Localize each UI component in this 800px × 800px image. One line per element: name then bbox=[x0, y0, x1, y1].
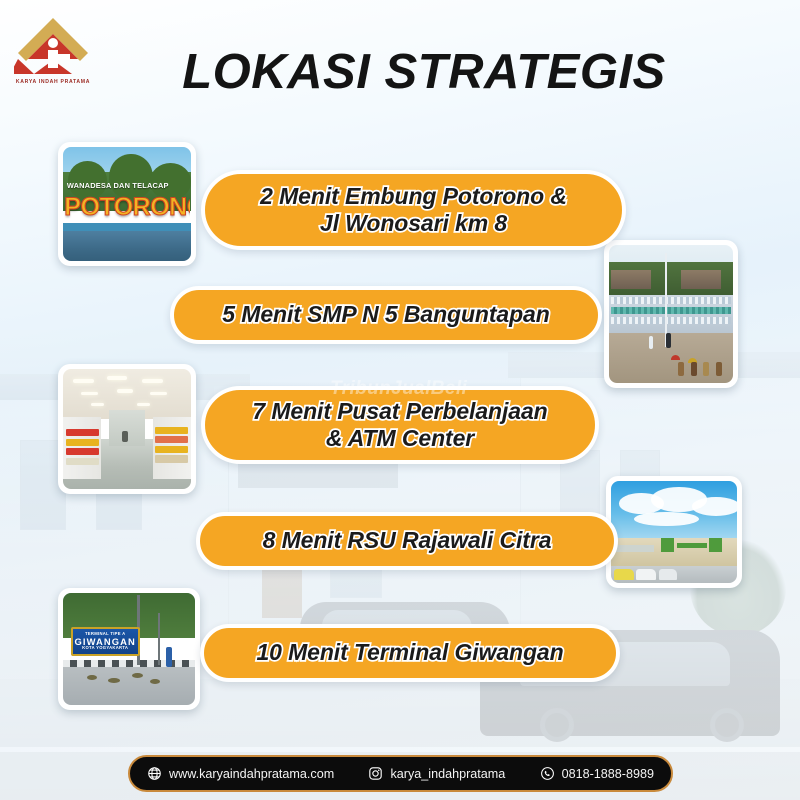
globe-icon bbox=[147, 766, 162, 781]
banner-smp-n-5-banguntapan[interactable]: 5 Menit SMP N 5 Banguntapan bbox=[170, 286, 602, 344]
banner-line: 5 Menit SMP N 5 Banguntapan bbox=[222, 301, 549, 327]
photo-rsu-rajawali-citra bbox=[606, 476, 742, 588]
photo-water bbox=[63, 231, 191, 261]
banner-line: 10 Menit Terminal Giwangan bbox=[256, 639, 563, 665]
banner-embung-potorono-text: 2 Menit Embung Potorono & Jl Wonosari km… bbox=[260, 183, 567, 237]
photo-ceiling-light bbox=[117, 389, 134, 393]
photo-embung-potorono-inner: WANADESA DAN TELACAP POTORONO bbox=[63, 147, 191, 261]
website-label: www.karyaindahpratama.com bbox=[169, 767, 334, 781]
photo-umbrella bbox=[671, 355, 680, 360]
photo-debris bbox=[108, 678, 120, 683]
contact-whatsapp[interactable]: 0818-1888-8989 bbox=[540, 766, 654, 781]
banner-smp-text: 5 Menit SMP N 5 Banguntapan bbox=[222, 301, 549, 328]
photo-product bbox=[66, 429, 99, 436]
page-title: LOKASI STRATEGIS bbox=[24, 44, 800, 100]
photo-product bbox=[155, 436, 188, 443]
banner-rsu-text: 8 Menit RSU Rajawali Citra bbox=[263, 527, 552, 554]
banner-pusat-perbelanjaan[interactable]: 7 Menit Pusat Perbelanjaan & ATM Center bbox=[201, 386, 599, 464]
photo-cloud bbox=[634, 512, 700, 526]
photo-terminal-sign: TERMINAL TIPE A GIWANGAN KOTA YOGYAKARTA bbox=[71, 627, 140, 656]
photo-person bbox=[649, 336, 653, 349]
photo-ceiling-light bbox=[150, 392, 167, 396]
photo-ceiling-light bbox=[91, 403, 104, 406]
photo-school-building bbox=[681, 270, 721, 289]
contact-website[interactable]: www.karyaindahpratama.com bbox=[147, 766, 334, 781]
photo-product bbox=[155, 427, 188, 434]
banner-rsu-rajawali-citra[interactable]: 8 Menit RSU Rajawali Citra bbox=[196, 512, 618, 570]
banner-line: 8 Menit RSU Rajawali Citra bbox=[263, 527, 552, 553]
photo-caption-small: WANADESA DAN TELACAP bbox=[67, 181, 187, 190]
photo-road bbox=[63, 665, 195, 705]
photo-smp-inner bbox=[609, 245, 733, 383]
banner-embung-potorono[interactable]: 2 Menit Embung Potorono & Jl Wonosari km… bbox=[201, 170, 626, 250]
photo-school-building bbox=[611, 270, 651, 289]
photo-student-row bbox=[611, 317, 730, 324]
photo-person bbox=[678, 362, 684, 376]
photo-hospital-inner bbox=[611, 481, 737, 583]
photo-parked-car bbox=[636, 569, 656, 580]
whatsapp-label: 0818-1888-8989 bbox=[562, 767, 654, 781]
photo-green-panel bbox=[661, 538, 674, 552]
photo-pusat-perbelanjaan bbox=[58, 364, 196, 494]
photo-cloud bbox=[692, 497, 737, 515]
photo-product bbox=[155, 455, 188, 462]
photo-product bbox=[66, 448, 99, 455]
photo-hospital-sign bbox=[677, 543, 707, 548]
instagram-icon bbox=[368, 766, 383, 781]
photo-shopper bbox=[122, 431, 128, 442]
photo-ceiling-light bbox=[81, 392, 98, 396]
photo-giwangan-inner: TERMINAL TIPE A GIWANGAN KOTA YOGYAKARTA bbox=[63, 593, 195, 705]
banner-line: 2 Menit Embung Potorono & bbox=[260, 183, 567, 209]
photo-ceiling-light bbox=[142, 379, 162, 383]
banner-giwangan-text: 10 Menit Terminal Giwangan bbox=[256, 639, 563, 666]
photo-ceiling-light bbox=[137, 403, 150, 406]
photo-person bbox=[691, 362, 697, 376]
photo-person bbox=[703, 362, 709, 376]
photo-terminal-giwangan: TERMINAL TIPE A GIWANGAN KOTA YOGYAKARTA bbox=[58, 588, 200, 710]
banner-perbelanjaan-text: 7 Menit Pusat Perbelanjaan & ATM Center bbox=[252, 398, 547, 452]
photo-person bbox=[166, 647, 172, 667]
photo-student-row bbox=[611, 307, 730, 314]
photo-product bbox=[66, 439, 99, 446]
photo-supermarket-inner bbox=[63, 369, 191, 489]
photo-green-panel bbox=[709, 538, 722, 552]
photo-product bbox=[66, 458, 99, 465]
photo-person bbox=[716, 362, 722, 376]
instagram-label: karya_indahpratama bbox=[390, 767, 505, 781]
whatsapp-icon bbox=[540, 766, 555, 781]
photo-sign-line-3: KOTA YOGYAKARTA bbox=[73, 645, 138, 650]
banner-line: 7 Menit Pusat Perbelanjaan bbox=[252, 398, 547, 424]
photo-student-row bbox=[611, 297, 730, 304]
photo-embung-potorono: WANADESA DAN TELACAP POTORONO bbox=[58, 142, 196, 266]
footer-contact-bar: www.karyaindahpratama.com karya_indahpra… bbox=[128, 755, 673, 792]
photo-caption-big: POTORONO bbox=[64, 193, 189, 222]
photo-ceiling-light bbox=[73, 379, 93, 383]
photo-debris bbox=[132, 673, 143, 678]
photo-parked-car bbox=[659, 569, 677, 580]
photo-pole bbox=[158, 613, 160, 665]
banner-terminal-giwangan[interactable]: 10 Menit Terminal Giwangan bbox=[200, 624, 620, 682]
contact-instagram[interactable]: karya_indahpratama bbox=[368, 766, 505, 781]
banner-line: Jl Wonosari km 8 bbox=[320, 210, 507, 236]
photo-product bbox=[155, 446, 188, 453]
photo-curb bbox=[63, 660, 195, 667]
photo-parked-car bbox=[614, 569, 634, 580]
photo-debris bbox=[150, 679, 160, 684]
photo-person bbox=[666, 333, 671, 348]
photo-ceiling-light bbox=[107, 376, 127, 380]
poster-canvas: KARYA INDAH PRATAMA LOKASI STRATEGIS WAN… bbox=[0, 0, 800, 800]
photo-smp-n-5-banguntapan bbox=[604, 240, 738, 388]
banner-line: & ATM Center bbox=[326, 425, 474, 451]
